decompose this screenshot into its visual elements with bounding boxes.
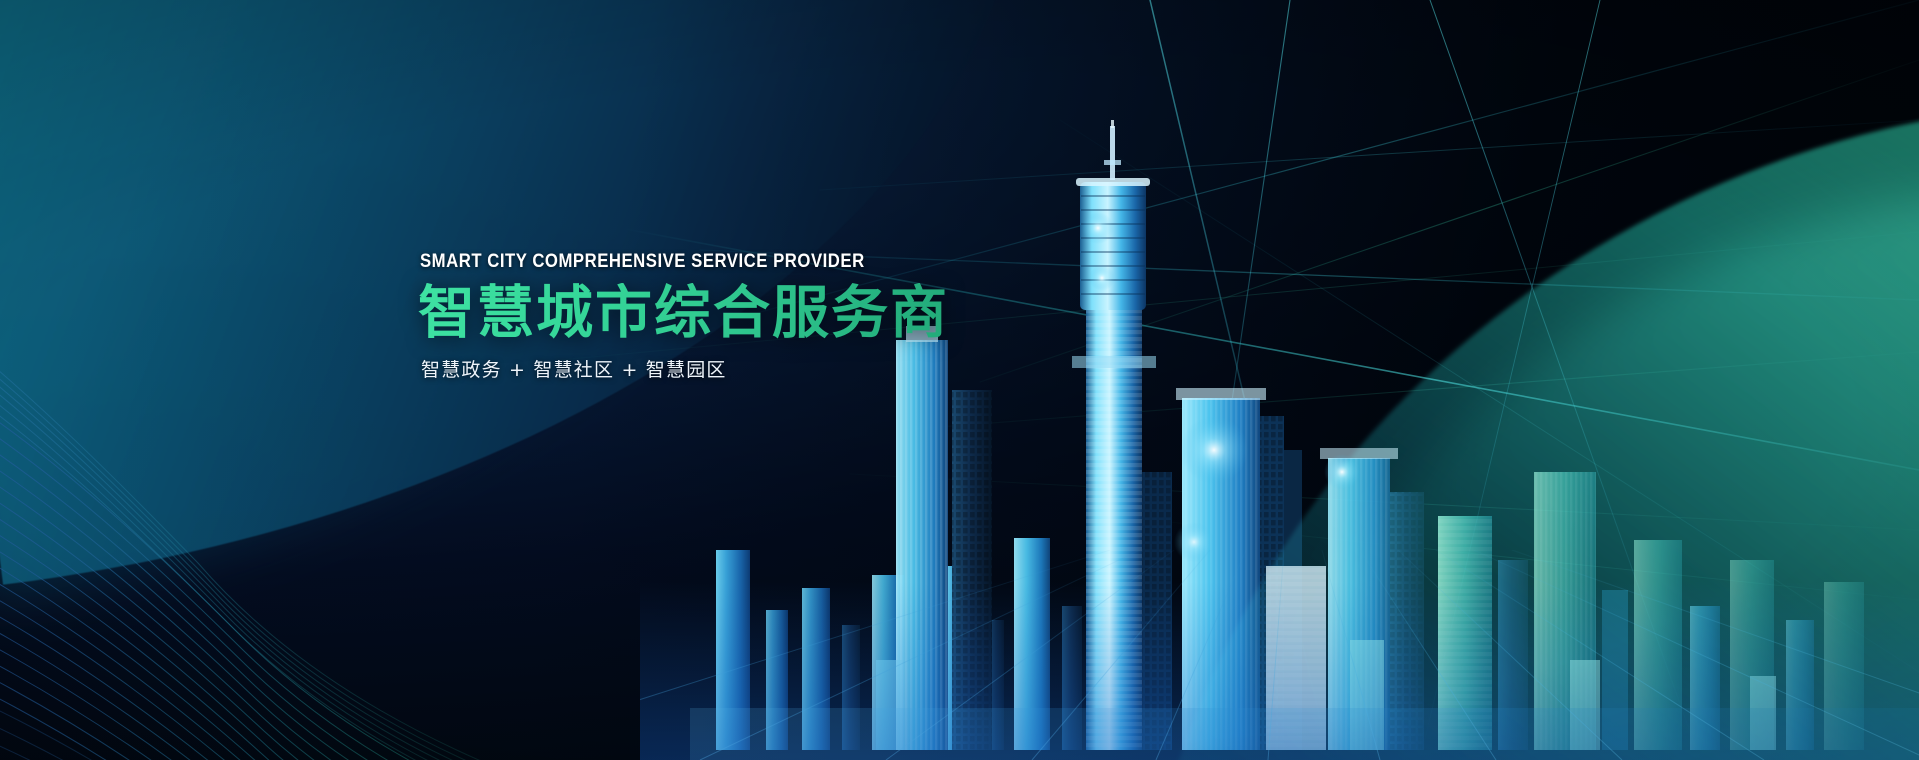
hero-banner: SMART CITY COMPREHENSIVE SERVICE PROVIDE… (0, 0, 1919, 760)
hero-headline: 智慧城市综合服务商 (418, 283, 1038, 345)
hero-subline: 智慧政务 + 智慧社区 + 智慧园区 (421, 359, 1038, 382)
hero-text-block: SMART CITY COMPREHENSIVE SERVICE PROVIDE… (418, 252, 1038, 381)
hero-eyebrow-text: SMART CITY COMPREHENSIVE SERVICE PROVIDE… (420, 252, 964, 271)
